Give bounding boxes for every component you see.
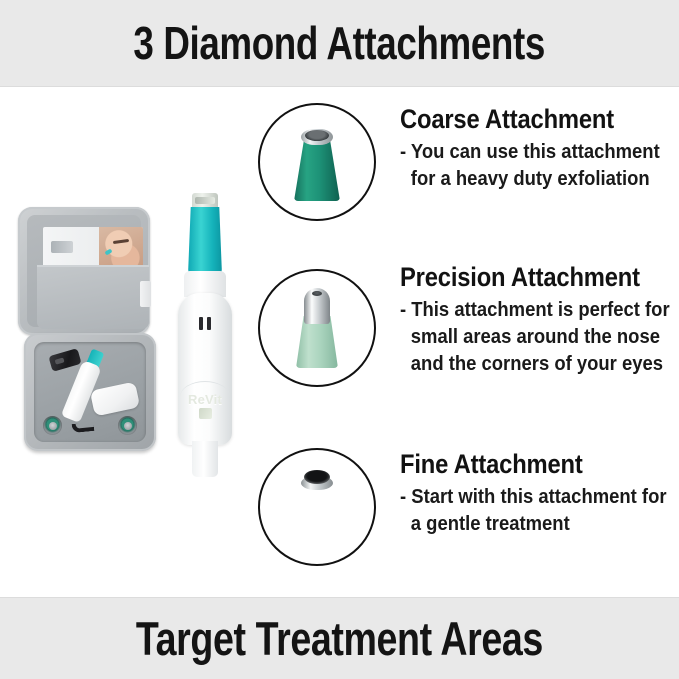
manual-logo — [51, 241, 73, 253]
case-tray — [34, 342, 146, 442]
device-metal-tip — [192, 193, 218, 209]
indicator-light-1 — [199, 317, 203, 330]
travel-case-image — [18, 207, 158, 447]
attachment-slot-left — [43, 416, 62, 435]
bottom-banner: Target Treatment Areas — [0, 597, 679, 679]
precision-text-block: Precision Attachment - This attachment i… — [400, 261, 679, 377]
infographic-page: 3 Diamond Attachments — [0, 0, 679, 679]
adapter-cable — [72, 422, 95, 433]
fine-text-block: Fine Attachment - Start with this attach… — [400, 448, 679, 537]
fine-description: - Start with this attachment for a gentl… — [400, 483, 675, 537]
fine-attachment-cone — [295, 468, 339, 546]
case-lid-pocket — [37, 265, 149, 329]
coarse-description: - You can use this attachment for a heav… — [400, 138, 675, 192]
attachment-slot-right — [118, 416, 137, 435]
precision-description: - This attachment is perfect for small a… — [400, 296, 675, 377]
precision-title: Precision Attachment — [400, 261, 646, 293]
coarse-text-block: Coarse Attachment - You can use this att… — [400, 103, 679, 192]
power-adapter — [90, 382, 140, 417]
attachment-row-fine: Fine Attachment - Start with this attach… — [250, 440, 679, 580]
top-banner: 3 Diamond Attachments — [0, 0, 679, 87]
diamond-disc-icon — [305, 130, 329, 141]
pocket-tab — [140, 281, 151, 307]
filter-pack — [48, 348, 81, 372]
coarse-attachment-cone — [294, 123, 340, 201]
attachment-row-precision: Precision Attachment - This attachment i… — [250, 255, 679, 423]
device-teal-attachment — [188, 207, 222, 275]
handheld-device-image: ReVit — [168, 193, 242, 483]
precision-attachment-cone — [296, 288, 338, 368]
device-body — [178, 293, 232, 445]
cone-body — [295, 486, 339, 546]
brand-mark-icon — [199, 408, 212, 419]
device-indicator-lights — [199, 317, 211, 330]
brand-name: ReVit — [188, 393, 222, 406]
case-lid-lining — [27, 215, 141, 327]
model-eyebrow — [113, 239, 129, 244]
indicator-light-2 — [207, 317, 211, 330]
case-body — [24, 333, 156, 451]
fine-title: Fine Attachment — [400, 448, 646, 480]
product-photo-column: ReVit — [0, 95, 250, 595]
cone-opening-icon — [304, 470, 330, 484]
attachment-list: Coarse Attachment - You can use this att… — [250, 95, 679, 595]
cone-chrome-dome — [304, 288, 330, 324]
device-base — [192, 441, 218, 477]
attachment-row-coarse: Coarse Attachment - You can use this att… — [250, 103, 679, 235]
page-title: 3 Diamond Attachments — [134, 20, 545, 66]
section-title: Target Treatment Areas — [136, 615, 543, 662]
device-branding: ReVit — [188, 393, 222, 419]
coarse-title: Coarse Attachment — [400, 103, 646, 135]
case-lid — [18, 207, 150, 335]
cone-body — [294, 139, 340, 201]
attachment-circle-coarse — [258, 103, 376, 221]
attachment-circle-fine — [258, 448, 376, 566]
attachment-circle-precision — [258, 269, 376, 387]
